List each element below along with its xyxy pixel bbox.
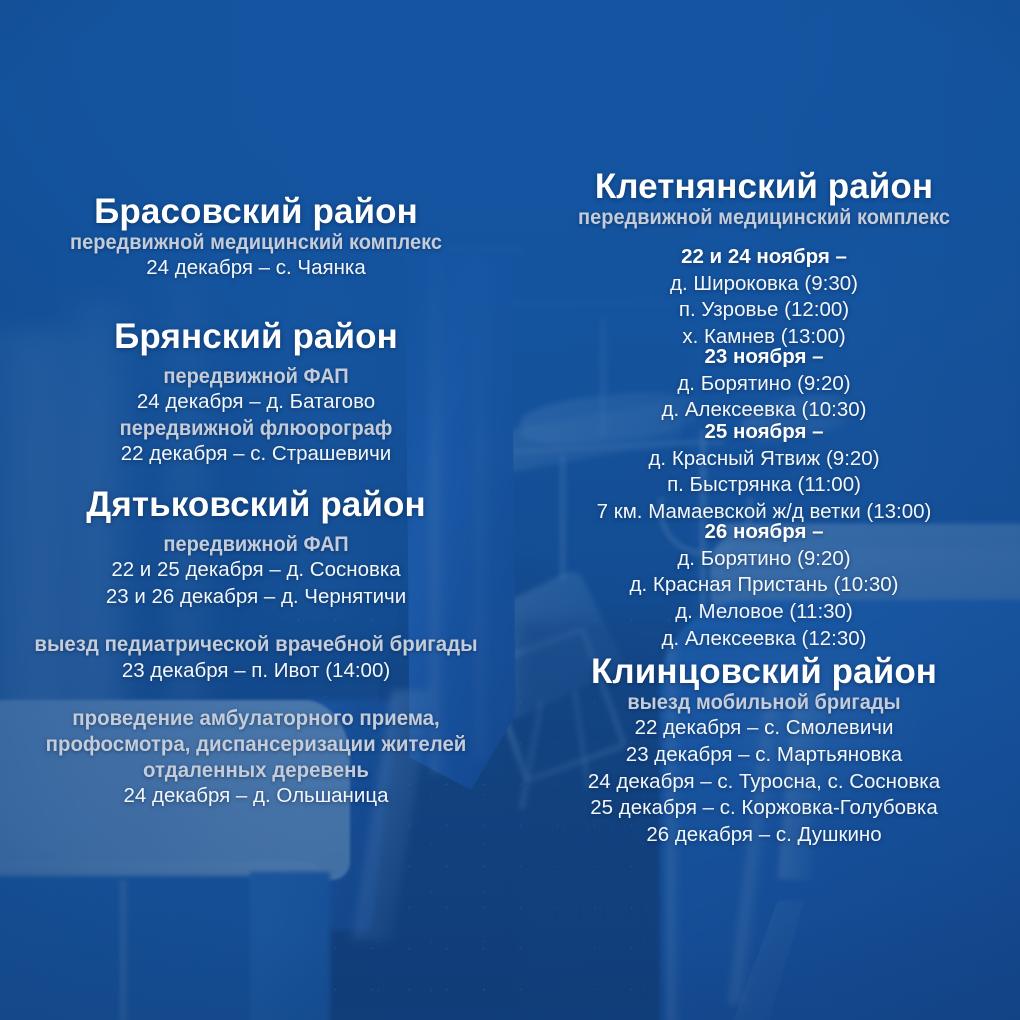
schedule-stop: д. Борятино (9:20) [508,371,1020,398]
schedule-entry: 25 декабря – с. Коржовка-Голубовка [508,795,1020,822]
district-title: Брасовский район [0,193,512,230]
note-heading-line: отдаленных деревень [13,758,499,784]
district-brasovsky: Брасовский район передвижной медицинский… [0,193,512,282]
schedule-date: 26 ноября – [508,519,1020,546]
schedule-stop: д. Широковка (9:30) [508,271,1020,298]
poster-content: Брасовский район передвижной медицинский… [0,0,1020,1020]
district-title: Брянский район [0,318,512,355]
schedule-date: 22 и 24 ноября – [508,244,1020,271]
spacer [0,355,512,364]
schedule-entry: 23 и 26 декабря – д. Чернятичи [0,584,512,611]
schedule-stop: д. Алексеевка (12:30) [508,626,1020,653]
schedule-entry: 22 декабря – с. Смолевичи [508,715,1020,742]
schedule-group-nov-22-24: 22 и 24 ноября – д. Широковка (9:30) п. … [508,244,1020,351]
note-heading-line: выезд педиатрической врачебной бригады [13,632,499,658]
district-klintsovsky: Клинцовский район выезд мобильной бригад… [508,653,1020,849]
note-pediatric-brigade: выезд педиатрической врачебной бригады 2… [0,632,512,684]
schedule-entry: 24 декабря – д. Батагово [0,389,512,416]
schedule-date: 23 ноября – [508,344,1020,371]
district-bryansky: Брянский район передвижной ФАП 24 декабр… [0,318,512,468]
schedule-group-nov-23: 23 ноября – д. Борятино (9:20) д. Алексе… [508,344,1020,424]
poster-canvas: Брасовский район передвижной медицинский… [0,0,1020,1020]
schedule-stop: д. Красная Пристань (10:30) [508,572,1020,599]
district-subtitle: передвижной медицинский комплекс [18,230,494,255]
schedule-group-nov-25: 25 ноября – д. Красный Ятвиж (9:20) п. Б… [508,419,1020,526]
schedule-stop: п. Узровье (12:00) [508,297,1020,324]
schedule-entry: 23 декабря – с. Мартьяновка [508,742,1020,769]
note-heading-line: профосмотра, диспансеризации жителей [13,732,499,758]
district-dyatkovsky: Дятьковский район передвижной ФАП 22 и 2… [0,486,512,611]
schedule-entry: 26 декабря – с. Душкино [508,822,1020,849]
district-subtitle-secondary: передвижной флюорограф [18,416,494,441]
schedule-entry: 24 декабря – д. Ольшаница [0,783,512,810]
district-title: Клинцовский район [508,653,1020,690]
district-title: Клетнянский район [508,168,1020,205]
note-heading-line: проведение амбулаторного приема, [13,706,499,732]
schedule-stop: д. Красный Ятвиж (9:20) [508,446,1020,473]
schedule-entry: 23 декабря – п. Ивот (14:00) [0,658,512,685]
district-subtitle: выезд мобильной бригады [526,690,1002,715]
schedule-group-nov-26: 26 ноября – д. Борятино (9:20) д. Красна… [508,519,1020,652]
schedule-date: 25 ноября – [508,419,1020,446]
schedule-entry: 24 декабря – с. Туросна, с. Сосновка [508,769,1020,796]
district-kletnyansky: Клетнянский район передвижной медицински… [508,168,1020,230]
spacer [0,523,512,532]
schedule-stop: д. Борятино (9:20) [508,546,1020,573]
schedule-entry: 22 и 25 декабря – д. Сосновка [0,557,512,584]
district-subtitle: передвижной медицинский комплекс [526,205,1002,230]
district-subtitle: передвижной ФАП [18,364,494,389]
note-outpatient-screening: проведение амбулаторного приема, профосм… [0,706,512,810]
schedule-entry: 24 декабря – с. Чаянка [0,255,512,282]
district-subtitle: передвижной ФАП [18,532,494,557]
schedule-entry: 22 декабря – с. Страшевичи [0,441,512,468]
schedule-stop: д. Меловое (11:30) [508,599,1020,626]
district-title: Дятьковский район [0,486,512,523]
schedule-stop: п. Быстрянка (11:00) [508,472,1020,499]
